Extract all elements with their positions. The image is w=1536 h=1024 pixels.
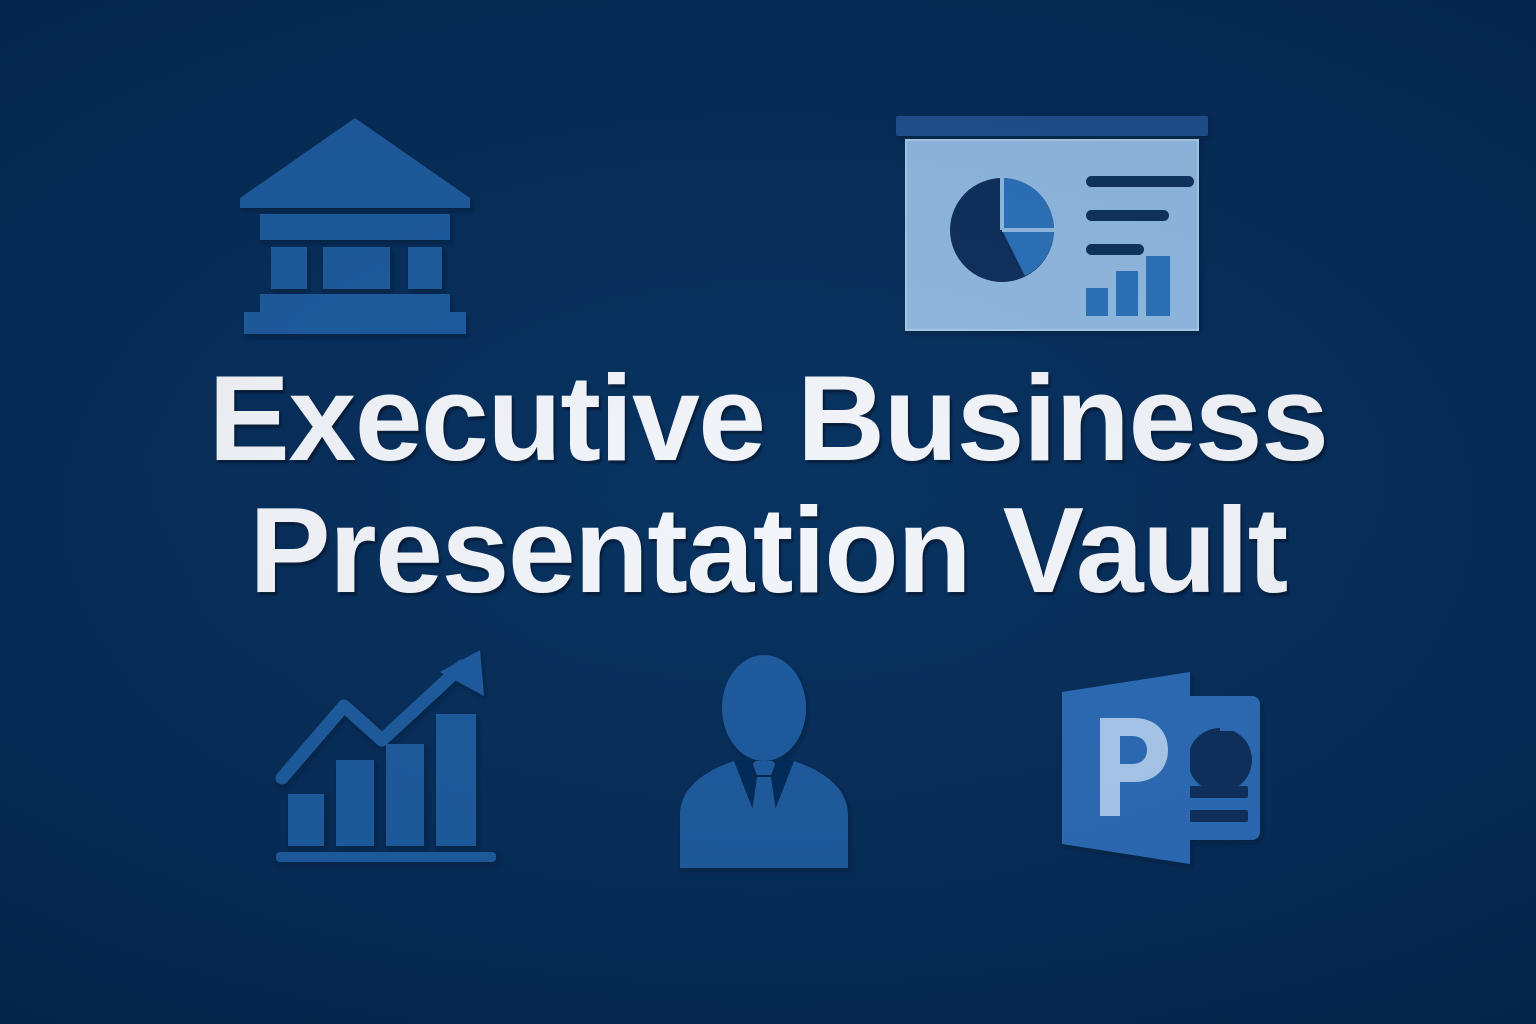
pie-chart-graphic: [950, 178, 1054, 282]
title-line-1: Executive Business: [0, 352, 1536, 484]
growth-chart-icon: [272, 648, 518, 874]
page-title: Executive Business Presentation Vault: [0, 352, 1536, 616]
bank-institution-icon: [238, 114, 472, 330]
title-line-2: Presentation Vault: [0, 484, 1536, 616]
presentation-board-icon: [894, 116, 1210, 334]
powerpoint-file-icon: [1054, 670, 1272, 866]
businessman-avatar-icon: [662, 653, 866, 868]
hero-banner: Executive Business Presentation Vault: [0, 0, 1536, 1024]
